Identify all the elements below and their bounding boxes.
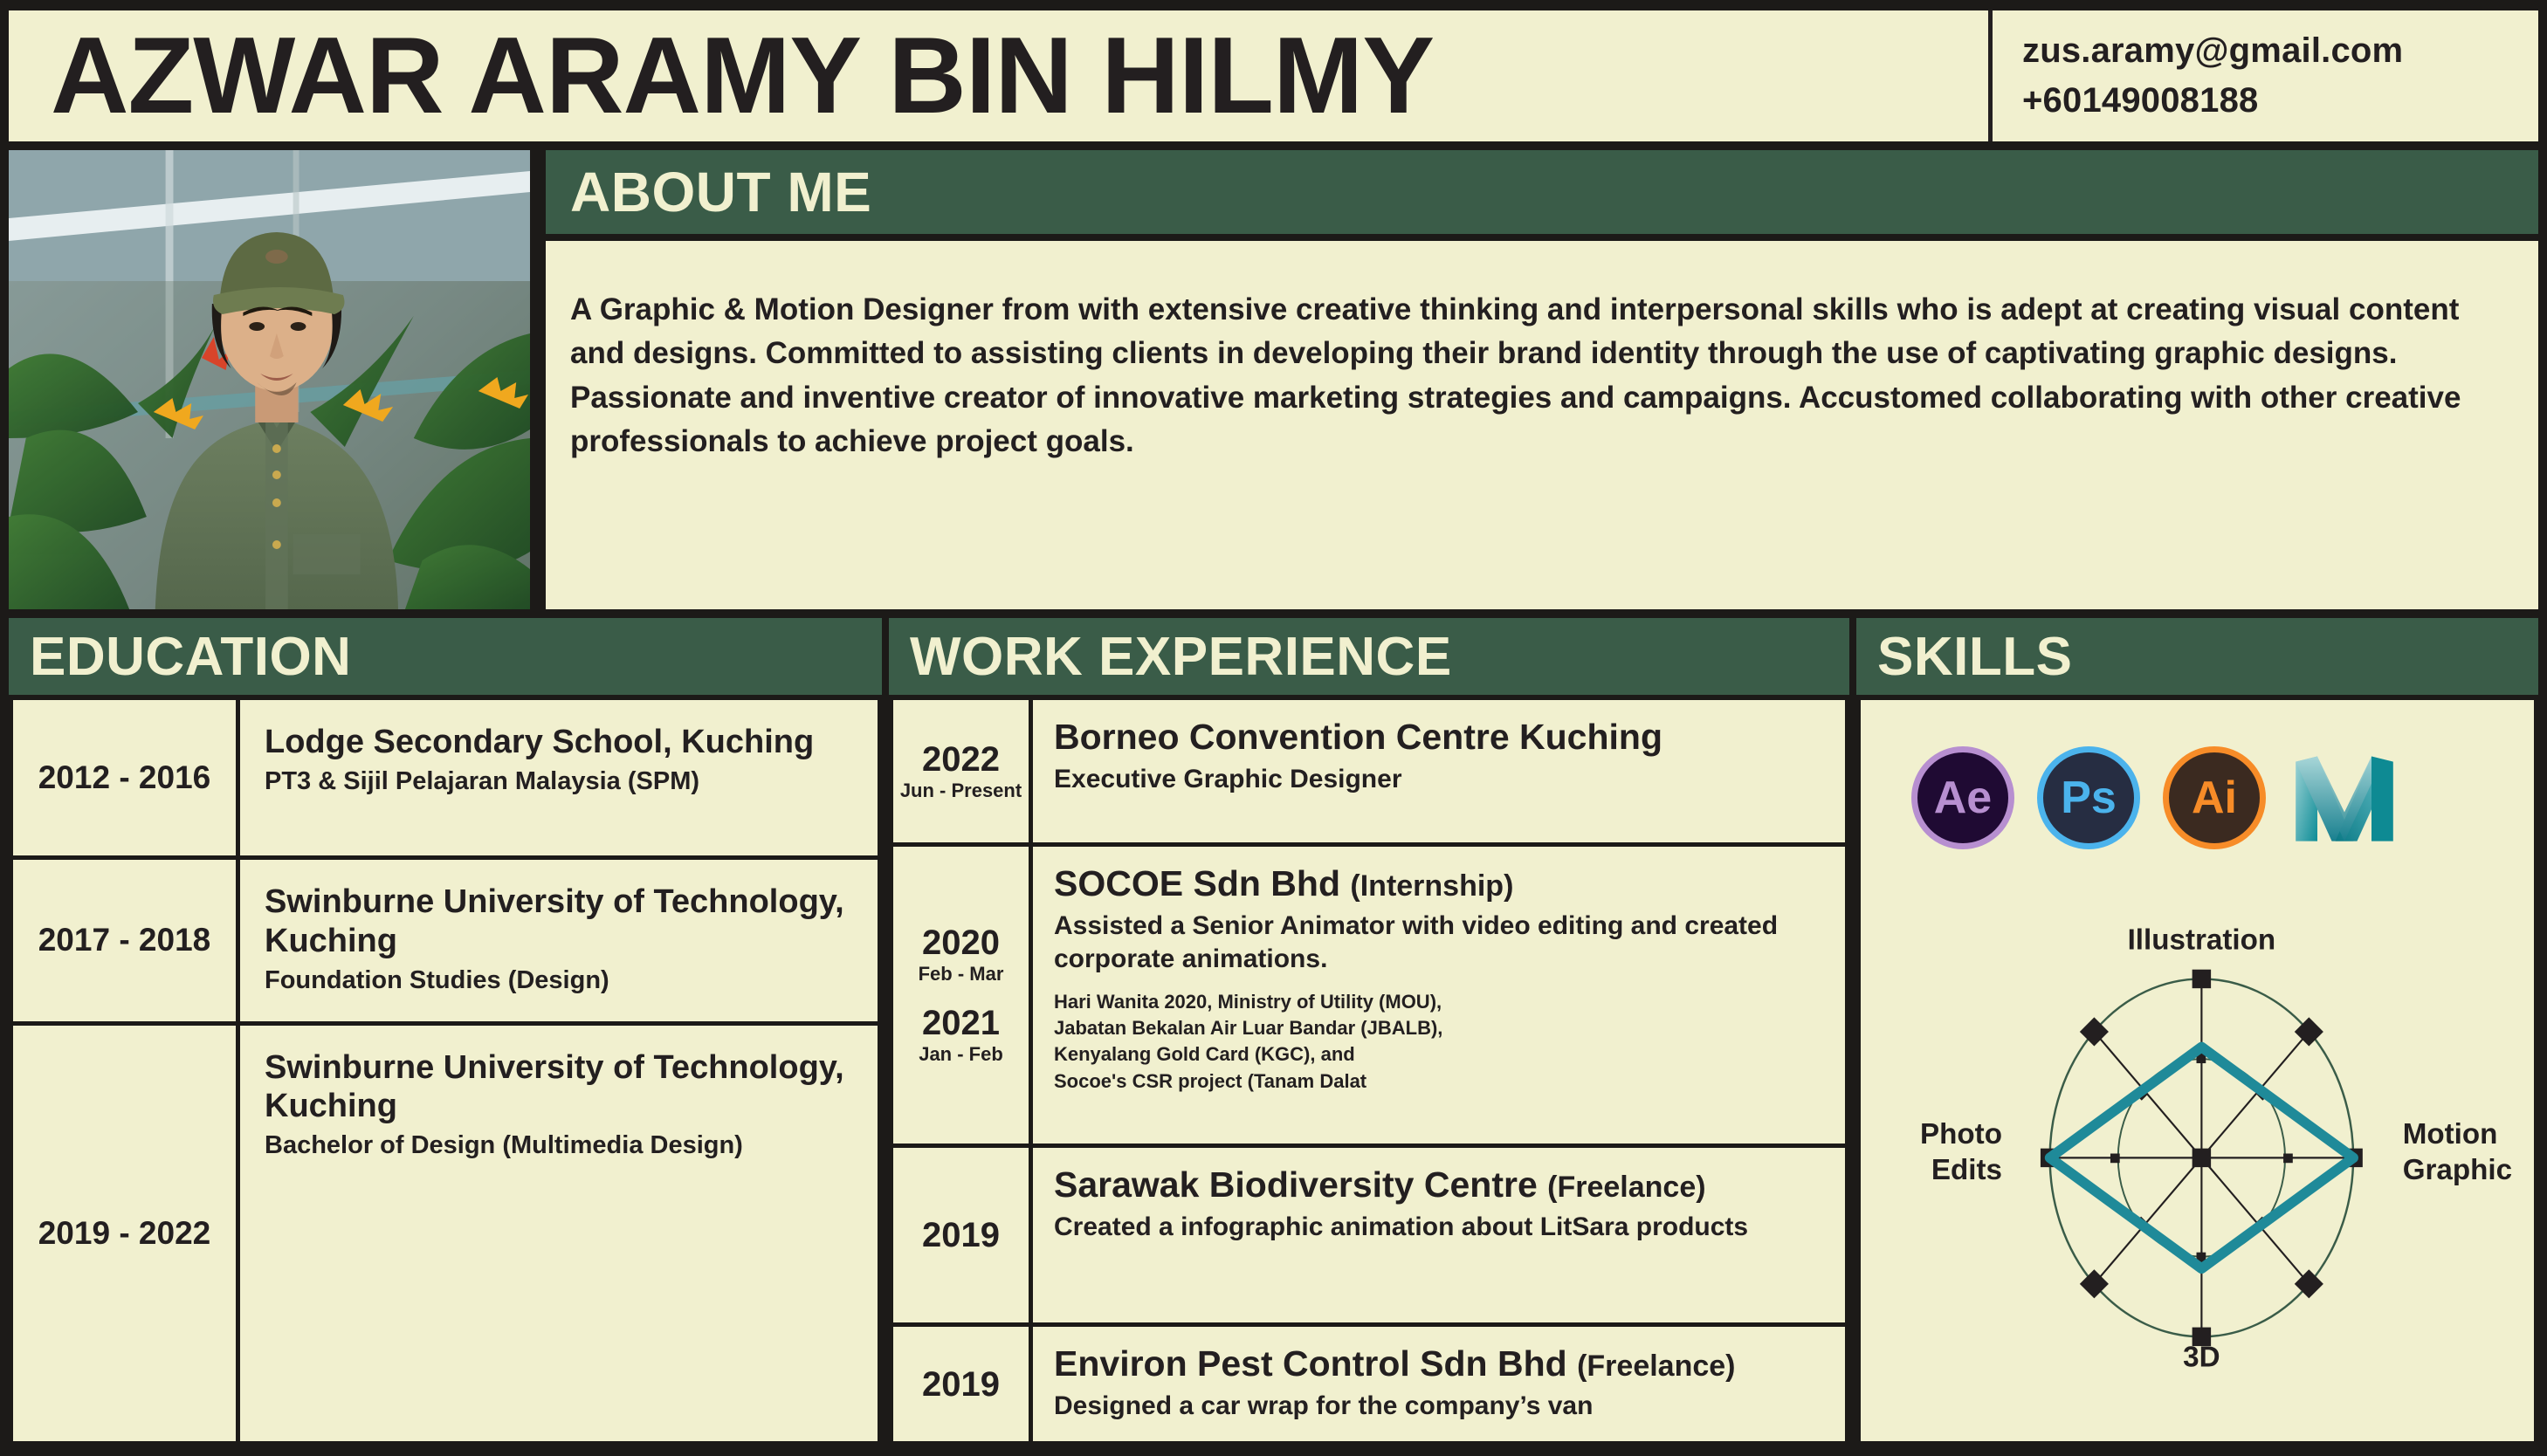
education-years: 2019 - 2022 — [13, 1026, 240, 1441]
education-info: Swinburne University of Technology, Kuch… — [240, 1026, 878, 1441]
work-year: 2020 — [919, 924, 1004, 961]
work-heading: WORK EXPERIENCE — [910, 626, 1452, 688]
maya-logo-svg — [2290, 747, 2399, 848]
header-bar: AZWAR ARAMY BIN HILMY zus.aramy@gmail.co… — [9, 10, 2538, 141]
work-range: Jun - Present — [900, 780, 1022, 802]
about-row: ABOUT ME A Graphic & Motion Designer fro… — [9, 150, 2538, 609]
radar-label-motion-graphic-2: Graphic — [2403, 1154, 2512, 1186]
profile-photo-image — [9, 150, 530, 609]
profile-photo — [9, 150, 537, 609]
work-row[interactable]: 2019 Environ Pest Control Sdn Bhd (Freel… — [893, 1327, 1845, 1441]
education-row[interactable]: 2019 - 2022 Swinburne University of Tech… — [13, 1026, 878, 1441]
radar-label-photo-edits-2: Edits — [1931, 1154, 2002, 1186]
work-date-block: 2019 — [922, 1366, 1000, 1403]
skills-column: SKILLS Ae Ps Ai — [1856, 618, 2538, 1446]
work-note: Kenyalang Gold Card (KGC), and — [1054, 1041, 1829, 1068]
work-year: 2019 — [922, 1366, 1000, 1403]
work-row[interactable]: 2022 Jun - Present Borneo Convention Cen… — [893, 700, 1845, 847]
work-note: Socoe's CSR project (Tanam Dalat — [1054, 1068, 1829, 1095]
work-role: Assisted a Senior Animator with video ed… — [1054, 910, 1829, 977]
education-degree: Foundation Studies (Design) — [265, 966, 857, 995]
radar-svg: Illustration Motion Graphic 3D Photo Edi… — [1861, 866, 2534, 1441]
education-row[interactable]: 2017 - 2018 Swinburne University of Tech… — [13, 860, 878, 1026]
contact-block: zus.aramy@gmail.com +60149008188 — [1988, 10, 2538, 141]
work-company-tag: (Internship) — [1350, 869, 1513, 903]
work-range: Jan - Feb — [919, 1043, 1003, 1066]
radar-label-motion-graphic-1: Motion — [2403, 1118, 2498, 1150]
education-degree: Bachelor of Design (Multimedia Design) — [265, 1131, 857, 1160]
work-company: SOCOE Sdn Bhd (Internship) — [1054, 864, 1829, 904]
work-company-tag: (Freelance) — [1547, 1171, 1705, 1204]
work-role: Executive Graphic Designer — [1054, 763, 1829, 796]
skills-heading: SKILLS — [1877, 626, 2072, 688]
skills-header: SKILLS — [1856, 618, 2538, 695]
work-date-block: 2022 Jun - Present — [900, 741, 1022, 802]
work-role: Designed a car wrap for the company’s va… — [1054, 1390, 1829, 1423]
work-company-name: Environ Pest Control Sdn Bhd — [1054, 1343, 1567, 1384]
name-block: AZWAR ARAMY BIN HILMY — [9, 10, 1988, 141]
maya-icon — [2289, 745, 2400, 851]
work-info: Borneo Convention Centre Kuching Executi… — [1033, 700, 1845, 842]
work-company: Environ Pest Control Sdn Bhd (Freelance) — [1054, 1344, 1829, 1384]
radar-label-photo-edits-1: Photo — [1920, 1118, 2002, 1150]
work-row[interactable]: 2019 Sarawak Biodiversity Centre (Freela… — [893, 1148, 1845, 1327]
work-company: Borneo Convention Centre Kuching — [1054, 718, 1829, 758]
work-dates: 2020 Feb - Mar 2021 Jan - Feb — [893, 847, 1033, 1144]
software-icons: Ae Ps Ai — [1861, 700, 2534, 866]
work-info: SOCOE Sdn Bhd (Internship) Assisted a Se… — [1033, 847, 1845, 1144]
work-info: Environ Pest Control Sdn Bhd (Freelance)… — [1033, 1327, 1845, 1441]
columns-row: EDUCATION 2012 - 2016 Lodge Secondary Sc… — [9, 618, 2538, 1446]
email-text[interactable]: zus.aramy@gmail.com — [2022, 31, 2538, 71]
work-date-block: 2020 Feb - Mar — [919, 924, 1004, 986]
phone-text[interactable]: +60149008188 — [2022, 81, 2538, 120]
radar-center-marker — [2192, 1149, 2211, 1167]
work-year: 2021 — [919, 1005, 1003, 1041]
about-heading: ABOUT ME — [570, 160, 871, 224]
education-body: 2012 - 2016 Lodge Secondary School, Kuch… — [9, 700, 882, 1446]
work-date-block: 2019 — [922, 1217, 1000, 1253]
education-school: Swinburne University of Technology, Kuch… — [265, 883, 857, 961]
work-date-block: 2021 Jan - Feb — [919, 1005, 1003, 1066]
after-effects-icon: Ae — [1911, 746, 2014, 849]
work-role: Created a infographic animation about Li… — [1054, 1211, 1829, 1244]
work-year: 2022 — [900, 741, 1022, 778]
radar-label-illustration: Illustration — [2128, 924, 2276, 956]
work-header: WORK EXPERIENCE — [889, 618, 1849, 695]
education-degree: PT3 & Sijil Pelajaran Malaysia (SPM) — [265, 767, 857, 796]
photoshop-icon: Ps — [2037, 746, 2140, 849]
education-info: Swinburne University of Technology, Kuch… — [240, 860, 878, 1021]
work-column: WORK EXPERIENCE 2022 Jun - Present Borne… — [889, 618, 1849, 1446]
education-header: EDUCATION — [9, 618, 882, 695]
work-year: 2019 — [922, 1217, 1000, 1253]
illustrator-icon: Ai — [2163, 746, 2266, 849]
work-dates: 2019 — [893, 1148, 1033, 1322]
work-note: Jabatan Bekalan Air Luar Bandar (JBALB), — [1054, 1015, 1829, 1041]
work-range: Feb - Mar — [919, 963, 1004, 986]
work-company-name: Sarawak Biodiversity Centre — [1054, 1164, 1538, 1205]
skills-body: Ae Ps Ai — [1856, 700, 2538, 1446]
skills-radar-chart: Illustration Motion Graphic 3D Photo Edi… — [1861, 866, 2534, 1441]
about-text: A Graphic & Motion Designer from with ex… — [570, 288, 2498, 464]
about-column: ABOUT ME A Graphic & Motion Designer fro… — [546, 150, 2538, 609]
education-school: Lodge Secondary School, Kuching — [265, 723, 857, 762]
work-info: Sarawak Biodiversity Centre (Freelance) … — [1033, 1148, 1845, 1322]
work-dates: 2019 — [893, 1327, 1033, 1441]
work-notes: Hari Wanita 2020, Ministry of Utility (M… — [1054, 989, 1829, 1095]
education-row[interactable]: 2012 - 2016 Lodge Secondary School, Kuch… — [13, 700, 878, 860]
work-dates: 2022 Jun - Present — [893, 700, 1033, 842]
page-title: AZWAR ARAMY BIN HILMY — [51, 26, 1434, 126]
education-info: Lodge Secondary School, Kuching PT3 & Si… — [240, 700, 878, 855]
about-body: A Graphic & Motion Designer from with ex… — [546, 241, 2538, 609]
work-company-name: SOCOE Sdn Bhd — [1054, 863, 1340, 903]
education-years: 2012 - 2016 — [13, 700, 240, 855]
work-row[interactable]: 2020 Feb - Mar 2021 Jan - Feb SOCOE Sdn … — [893, 847, 1845, 1148]
education-school: Swinburne University of Technology, Kuch… — [265, 1048, 857, 1127]
work-company: Sarawak Biodiversity Centre (Freelance) — [1054, 1165, 1829, 1205]
work-company-tag: (Freelance) — [1577, 1350, 1735, 1383]
work-note: Hari Wanita 2020, Ministry of Utility (M… — [1054, 989, 1829, 1015]
about-header: ABOUT ME — [546, 150, 2538, 234]
education-heading: EDUCATION — [30, 626, 351, 688]
education-column: EDUCATION 2012 - 2016 Lodge Secondary Sc… — [9, 618, 882, 1446]
resume-page: AZWAR ARAMY BIN HILMY zus.aramy@gmail.co… — [0, 0, 2547, 1456]
work-company-name: Borneo Convention Centre Kuching — [1054, 717, 1662, 757]
education-years: 2017 - 2018 — [13, 860, 240, 1021]
work-body: 2022 Jun - Present Borneo Convention Cen… — [889, 700, 1849, 1446]
